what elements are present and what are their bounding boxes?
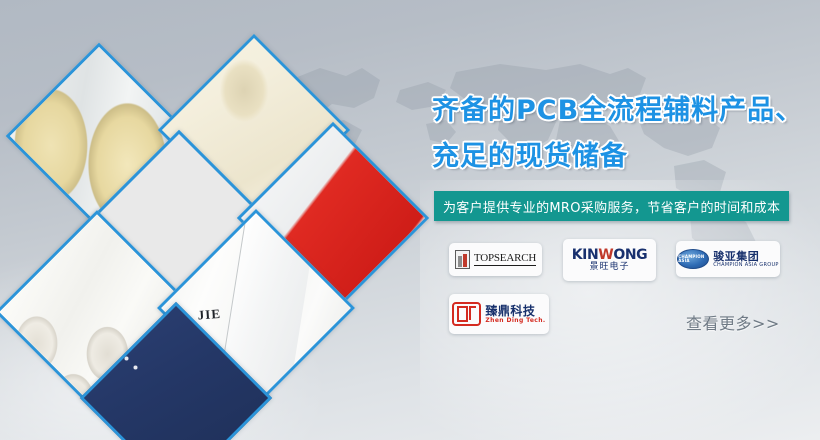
film-print-label: JIE <box>197 307 221 322</box>
zhending-label-en: Zhen Ding Tech. <box>485 318 545 324</box>
globe-icon-label: CHAMPION ASIA <box>678 255 708 263</box>
subtitle-text: 为客户提供专业的MRO采购服务，节省客户的时间和成本 <box>443 197 780 216</box>
zhending-label-cn: 臻鼎科技 <box>485 305 535 317</box>
champion-label-en: CHAMPION ASIA GROUP <box>713 263 778 268</box>
client-logo-kinwong[interactable]: KINWONG 景旺电子 <box>563 239 656 281</box>
kinwong-label-part-w: W <box>598 247 613 263</box>
kinwong-label-en: KINWONG <box>572 248 648 262</box>
headline-line-1: 齐备的PCB全流程辅料产品、 <box>432 88 812 134</box>
client-logo-champion-asia[interactable]: CHAMPION ASIA 骏亚集团 CHAMPION ASIA GROUP <box>676 241 780 277</box>
zhending-mark-icon <box>452 302 481 326</box>
globe-icon: CHAMPION ASIA <box>677 249 709 269</box>
kinwong-label-part-b: ONG <box>613 247 647 263</box>
subtitle-bar: 为客户提供专业的MRO采购服务，节省客户的时间和成本 <box>434 191 789 221</box>
headline-block: 齐备的PCB全流程辅料产品、 充足的现货储备 <box>432 88 812 180</box>
promo-banner: JIE 齐备的PCB全流程辅料产品、 充足的现货储备 为客户提供专业的MRO采购… <box>0 0 820 440</box>
topsearch-mark-icon <box>455 250 470 269</box>
kinwong-label-cn: 景旺电子 <box>589 263 629 272</box>
client-logo-zhen-ding[interactable]: 臻鼎科技 Zhen Ding Tech. <box>449 294 549 334</box>
topsearch-label: TOPSEARCH <box>474 253 536 266</box>
client-logo-topsearch[interactable]: TOPSEARCH <box>449 243 542 276</box>
view-more-link[interactable]: 查看更多>> <box>686 316 780 332</box>
kinwong-label-part-a: KIN <box>572 247 599 263</box>
headline-line-2: 充足的现货储备 <box>432 134 812 180</box>
champion-label-cn: 骏亚集团 <box>713 251 778 262</box>
